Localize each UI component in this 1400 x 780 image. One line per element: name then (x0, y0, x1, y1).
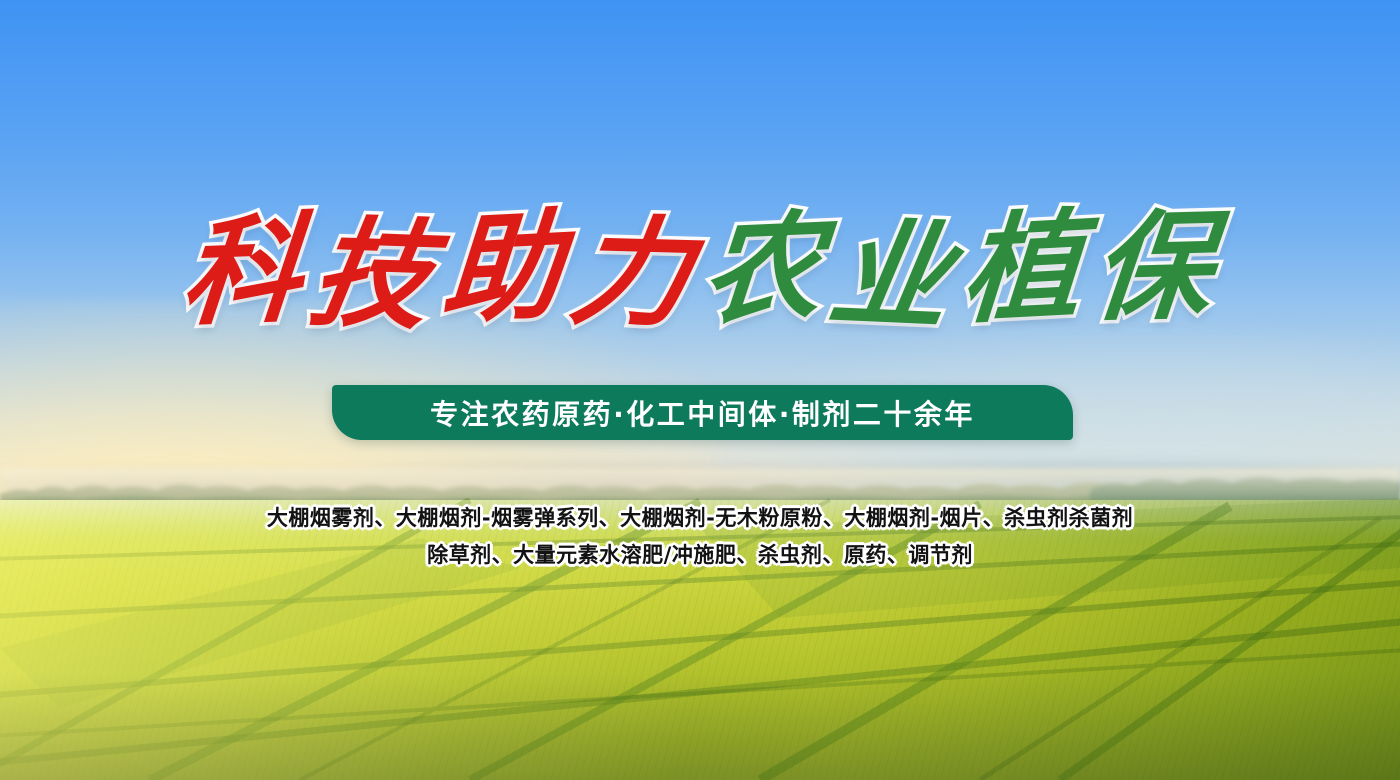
headline-red-char-4: 力 (559, 196, 711, 349)
headline-green-char-1: 农 (694, 191, 836, 347)
headline-green-char-3: 植 (955, 190, 1096, 347)
subtitle-pill: 专注农药原药·化工中间体·制剂二十余年 (332, 385, 1073, 440)
product-list: 大棚烟雾剂、大棚烟剂-烟雾弹系列、大棚烟剂-无木粉原粉、大棚烟剂-烟片、杀虫剂杀… (0, 500, 1400, 574)
banner-headline: 科技助力农业植保 (0, 196, 1400, 346)
product-line-1: 大棚烟雾剂、大棚烟剂-烟雾弹系列、大棚烟剂-无木粉原粉、大棚烟剂-烟片、杀虫剂杀… (0, 500, 1400, 537)
headline-red-char-1: 科 (173, 194, 316, 349)
promo-banner: 科技助力农业植保 专注农药原药·化工中间体·制剂二十余年 大棚烟雾剂、大棚烟剂-… (0, 0, 1400, 780)
headline-red-char-2: 技 (298, 198, 451, 352)
headline-green-char-2: 业 (817, 198, 971, 354)
headline-red-char-3: 助 (435, 190, 576, 347)
product-line-2: 除草剂、大量元素水溶肥/冲施肥、杀虫剂、原药、调节剂 (0, 537, 1400, 574)
headline-green-char-4: 保 (1083, 190, 1228, 343)
subtitle-text: 专注农药原药·化工中间体·制剂二十余年 (430, 393, 975, 433)
